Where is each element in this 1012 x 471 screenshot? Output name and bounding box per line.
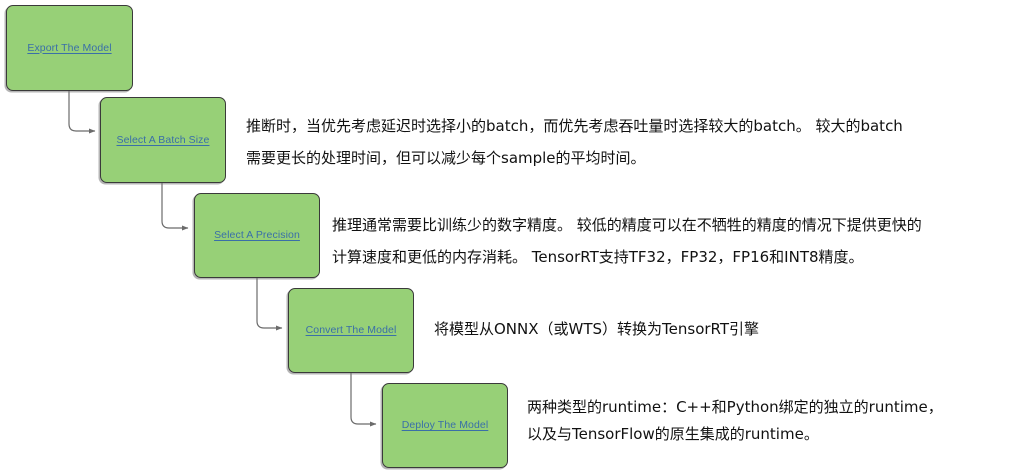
note-convert: 将模型从ONNX（或WTS）转换为TensorRT引擎 <box>434 313 759 345</box>
note-convert-line-1: 将模型从ONNX（或WTS）转换为TensorRT引擎 <box>434 313 759 345</box>
connector-convert-to-deploy <box>351 373 376 424</box>
node-deploy-the-model[interactable]: Deploy The Model <box>382 383 508 468</box>
node-label-convert-the-model[interactable]: Convert The Model <box>306 324 397 337</box>
note-batch-size-line-1: 推断时，当优先考虑延迟时选择小的batch，而优先考虑吞吐量时选择较大的batc… <box>246 110 903 142</box>
note-precision: 推理通常需要比训练少的数字精度。 较低的精度可以在不牺牲的精度的情况下提供更快的… <box>332 209 922 273</box>
node-label-select-a-precision[interactable]: Select A Precision <box>214 229 300 242</box>
node-select-a-batch-size[interactable]: Select A Batch Size <box>100 97 226 183</box>
node-label-deploy-the-model[interactable]: Deploy The Model <box>402 419 489 432</box>
node-select-a-precision[interactable]: Select A Precision <box>194 193 320 278</box>
note-deploy-line-2: 以及与TensorFlow的原生集成的runtime。 <box>527 421 943 448</box>
connector-precision-to-convert <box>257 278 282 328</box>
node-export-the-model[interactable]: Export The Model <box>6 5 133 91</box>
diagram-canvas: Export The Model Select A Batch Size Sel… <box>0 0 1012 471</box>
note-batch-size-line-2: 需要更长的处理时间，但可以减少每个sample的平均时间。 <box>246 142 903 174</box>
node-label-select-a-batch-size[interactable]: Select A Batch Size <box>117 134 210 147</box>
note-deploy-line-1: 两种类型的runtime：C++和Python绑定的独立的runtime， <box>527 394 943 421</box>
connector-batch-to-precision <box>162 183 188 228</box>
node-convert-the-model[interactable]: Convert The Model <box>288 288 414 373</box>
note-deploy: 两种类型的runtime：C++和Python绑定的独立的runtime， 以及… <box>527 394 943 448</box>
note-batch-size: 推断时，当优先考虑延迟时选择小的batch，而优先考虑吞吐量时选择较大的batc… <box>246 110 903 174</box>
note-precision-line-2: 计算速度和更低的内存消耗。 TensorRT支持TF32，FP32，FP16和I… <box>332 241 922 273</box>
note-precision-line-1: 推理通常需要比训练少的数字精度。 较低的精度可以在不牺牲的精度的情况下提供更快的 <box>332 209 922 241</box>
node-label-export-the-model[interactable]: Export The Model <box>27 42 111 55</box>
connector-export-to-batch <box>69 91 95 131</box>
